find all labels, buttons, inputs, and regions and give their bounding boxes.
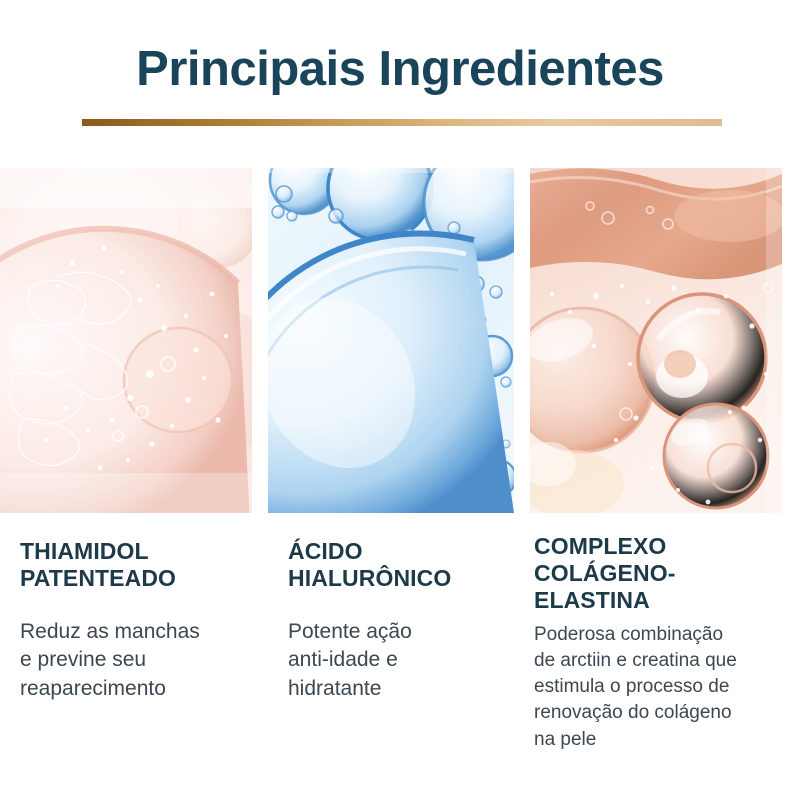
- title-line: ELASTINA: [534, 587, 650, 613]
- desc-line: Poderosa combinação: [534, 624, 723, 645]
- ingredient-card-thiamidol: THIAMIDOL PATENTEADO Reduz as manchas e …: [0, 168, 252, 703]
- gold-divider: [82, 119, 722, 126]
- desc-line: estimula o processo de: [534, 676, 729, 697]
- pink-serum-bubble-photo: [0, 168, 252, 513]
- ingredient-title-complexo-colageno-elastina: COMPLEXO COLÁGENO- ELASTINA: [534, 533, 782, 614]
- desc-line: anti-idade e: [288, 648, 398, 671]
- ingredient-columns: THIAMIDOL PATENTEADO Reduz as manchas e …: [0, 168, 800, 768]
- title-line: PATENTEADO: [20, 565, 176, 591]
- ingredient-image-complexo-colageno-elastina: [530, 168, 782, 513]
- ingredients-infographic: Principais Ingredientes: [0, 0, 800, 800]
- desc-line: Reduz as manchas: [20, 620, 200, 643]
- ingredient-description-complexo-colageno-elastina: Poderosa combinação de arctiin e creatin…: [534, 622, 782, 753]
- ingredient-description-thiamidol: Reduz as manchas e previne seu reapareci…: [20, 618, 252, 703]
- header: Principais Ingredientes: [0, 44, 800, 96]
- ingredient-title-acido-hialuronico: ÁCIDO HIALURÔNICO: [288, 538, 514, 592]
- ingredient-description-acido-hialuronico: Potente ação anti-idade e hidratante: [288, 618, 514, 703]
- blue-bubbles-photo: [268, 168, 514, 513]
- title-line: COMPLEXO: [534, 533, 666, 559]
- desc-line: e previne seu: [20, 648, 146, 671]
- rose-gel-bubbles-photo: [530, 168, 782, 513]
- desc-line: renovação do colágeno: [534, 702, 732, 723]
- ingredient-title-thiamidol: THIAMIDOL PATENTEADO: [20, 538, 252, 592]
- title-line: COLÁGENO-: [534, 560, 675, 586]
- desc-line: hidratante: [288, 677, 381, 700]
- ingredient-card-complexo-colageno-elastina: COMPLEXO COLÁGENO- ELASTINA Poderosa com…: [530, 168, 782, 753]
- ingredient-card-acido-hialuronico: ÁCIDO HIALURÔNICO Potente ação anti-idad…: [268, 168, 514, 703]
- ingredient-image-thiamidol: [0, 168, 252, 513]
- ingredient-image-acido-hialuronico: [268, 168, 514, 513]
- desc-line: de arctiin e creatina que: [534, 650, 737, 671]
- title-line: THIAMIDOL: [20, 538, 149, 564]
- desc-line: na pele: [534, 729, 596, 750]
- page-title: Principais Ingredientes: [0, 44, 800, 96]
- title-line: HIALURÔNICO: [288, 565, 451, 591]
- desc-line: Potente ação: [288, 620, 412, 643]
- desc-line: reaparecimento: [20, 677, 166, 700]
- title-line: ÁCIDO: [288, 538, 363, 564]
